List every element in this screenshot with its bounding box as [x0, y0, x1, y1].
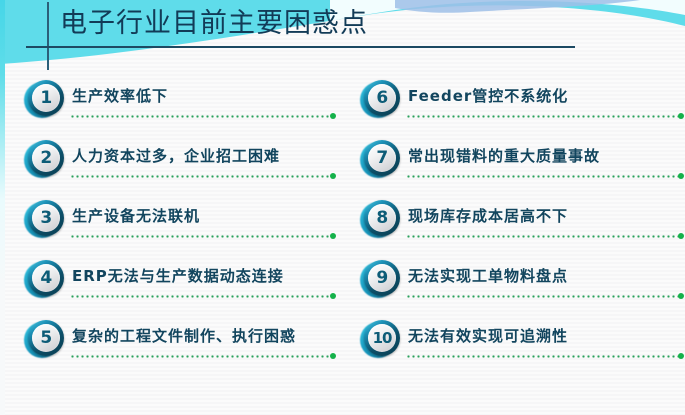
list-item[interactable]: 1 生产效率低下 [22, 78, 340, 138]
dotted-rule [70, 355, 332, 358]
badge-number: 6 [376, 90, 387, 107]
badge-number: 9 [376, 270, 387, 287]
number-badge: 2 [28, 140, 64, 176]
page-title: 电子行业目前主要困惑点 [60, 7, 368, 41]
list-item-label: 复杂的工程文件制作、执行困惑 [72, 325, 296, 347]
badge-number: 10 [373, 330, 392, 347]
dotted-rule [406, 175, 680, 178]
number-badge: 1 [28, 80, 64, 116]
list-item[interactable]: 6 Feeder管控不系统化 [358, 78, 676, 138]
list-item[interactable]: 9 无法实现工单物料盘点 [358, 258, 676, 318]
dotted-rule [406, 355, 680, 358]
list-item[interactable]: 2 人力资本过多，企业招工困难 [22, 138, 340, 198]
left-edge-rail [0, 0, 5, 415]
badge-number: 7 [376, 150, 387, 167]
badge-inner: 6 [368, 84, 396, 112]
list-item[interactable]: 3 生产设备无法联机 [22, 198, 340, 258]
badge-inner: 3 [32, 204, 60, 232]
rule-end-dot-icon [330, 233, 336, 239]
rule-end-dot-icon [678, 353, 684, 359]
list-item-label: 现场库存成本居高不下 [408, 205, 568, 227]
number-badge: 10 [364, 320, 400, 356]
dotted-rule [406, 115, 680, 118]
dotted-rule [70, 235, 332, 238]
rule-end-dot-icon [678, 173, 684, 179]
title-vertical-rule [47, 2, 49, 70]
list-item-label: 生产效率低下 [72, 85, 168, 107]
slide-canvas: 电子行业目前主要困惑点 1 生产效率低下 2 人力资本过多，企业招工困难 [0, 0, 685, 415]
badge-number: 3 [40, 210, 51, 227]
list-item[interactable]: 8 现场库存成本居高不下 [358, 198, 676, 258]
list-item[interactable]: 5 复杂的工程文件制作、执行困惑 [22, 318, 340, 378]
dotted-rule [70, 175, 332, 178]
list-item-label: ERP无法与生产数据动态连接 [72, 265, 284, 287]
list-item[interactable]: 10 无法有效实现可追溯性 [358, 318, 676, 378]
list-item[interactable]: 4 ERP无法与生产数据动态连接 [22, 258, 340, 318]
badge-inner: 1 [32, 84, 60, 112]
number-badge: 3 [28, 200, 64, 236]
badge-number: 8 [376, 210, 387, 227]
right-column: 6 Feeder管控不系统化 7 常出现错料的重大质量事故 8 [358, 78, 676, 378]
rule-end-dot-icon [330, 113, 336, 119]
list-item[interactable]: 7 常出现错料的重大质量事故 [358, 138, 676, 198]
title-horizontal-rule [26, 46, 575, 48]
number-badge: 9 [364, 260, 400, 296]
number-badge: 4 [28, 260, 64, 296]
dotted-rule [70, 115, 332, 118]
list-item-label: 人力资本过多，企业招工困难 [72, 145, 280, 167]
number-badge: 7 [364, 140, 400, 176]
dotted-rule [70, 295, 332, 298]
number-badge: 5 [28, 320, 64, 356]
list-item-label: 常出现错料的重大质量事故 [408, 145, 600, 167]
badge-number: 1 [40, 90, 51, 107]
rule-end-dot-icon [330, 173, 336, 179]
dotted-rule [406, 295, 680, 298]
badge-inner: 8 [368, 204, 396, 232]
number-badge: 8 [364, 200, 400, 236]
badge-inner: 9 [368, 264, 396, 292]
rule-end-dot-icon [330, 293, 336, 299]
badge-number: 4 [40, 270, 51, 287]
badge-number: 2 [40, 150, 51, 167]
list-item-label: 无法实现工单物料盘点 [408, 265, 568, 287]
list-item-label: Feeder管控不系统化 [408, 85, 568, 107]
dotted-rule [406, 235, 680, 238]
list-item-label: 生产设备无法联机 [72, 205, 200, 227]
number-badge: 6 [364, 80, 400, 116]
badge-number: 5 [40, 330, 51, 347]
badge-inner: 2 [32, 144, 60, 172]
rule-end-dot-icon [678, 233, 684, 239]
rule-end-dot-icon [678, 293, 684, 299]
list-item-label: 无法有效实现可追溯性 [408, 325, 568, 347]
badge-inner: 7 [368, 144, 396, 172]
rule-end-dot-icon [330, 353, 336, 359]
badge-inner: 5 [32, 324, 60, 352]
rule-end-dot-icon [678, 113, 684, 119]
badge-inner: 4 [32, 264, 60, 292]
badge-inner: 10 [368, 324, 396, 352]
left-column: 1 生产效率低下 2 人力资本过多，企业招工困难 3 [22, 78, 340, 378]
